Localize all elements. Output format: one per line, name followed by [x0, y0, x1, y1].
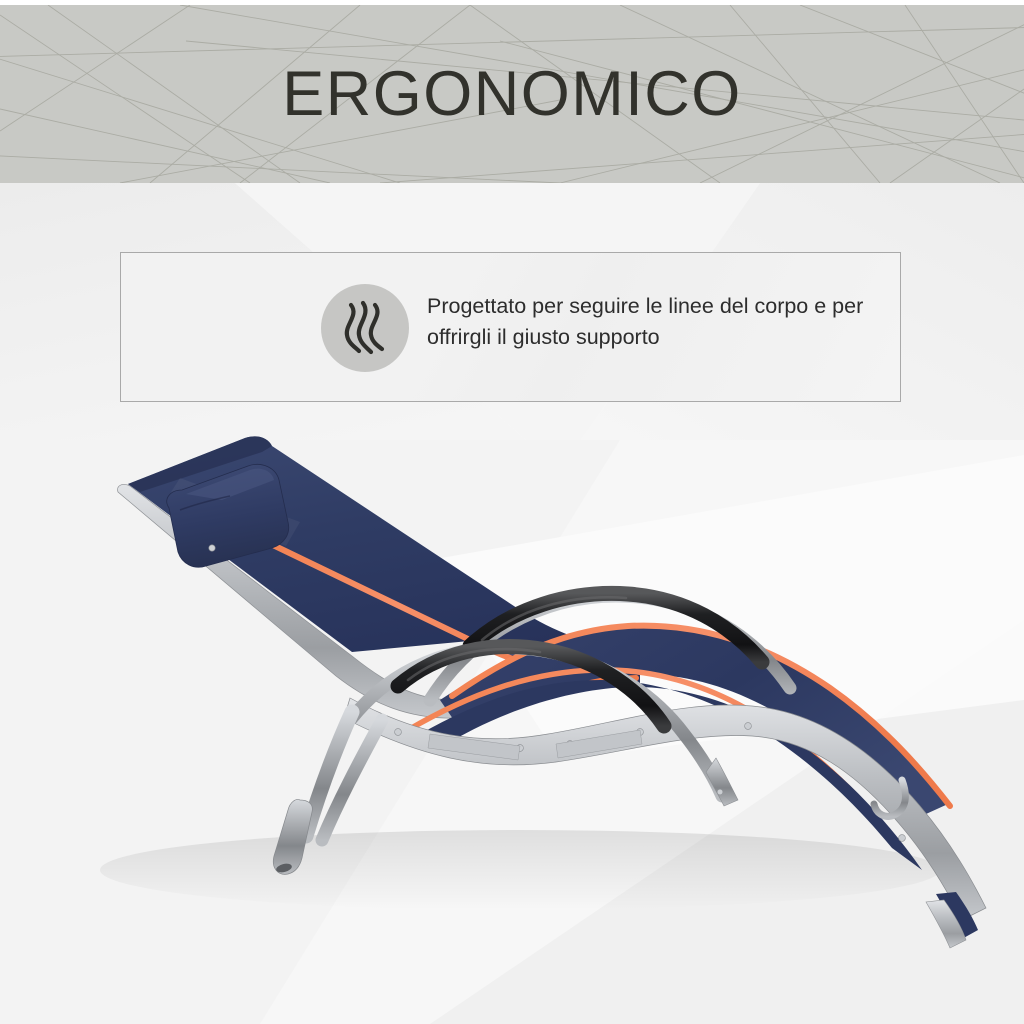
- ergonomic-waves-icon: [321, 284, 409, 372]
- product-shadow: [100, 830, 940, 910]
- feature-description-line-1: Progettato per seguire le linee del corp…: [427, 291, 877, 322]
- product-feature-banner: ERGONOMICO Progettato per seguire le lin…: [0, 0, 1024, 1024]
- page-title: ERGONOMICO: [0, 5, 1024, 183]
- product-image-sdraio: [0, 400, 1024, 1024]
- feature-card-inner: Progettato per seguire le linee del corp…: [121, 253, 900, 401]
- rivet: [717, 789, 723, 795]
- header-banner: ERGONOMICO: [0, 5, 1024, 183]
- feature-description: Progettato per seguire le linee del corp…: [427, 291, 877, 353]
- ergonomic-waves-glyph: [339, 299, 391, 357]
- feature-description-line-2: offrirgli il giusto supporto: [427, 322, 877, 353]
- rivet: [209, 545, 215, 551]
- feature-card: Progettato per seguire le linee del corp…: [120, 252, 901, 402]
